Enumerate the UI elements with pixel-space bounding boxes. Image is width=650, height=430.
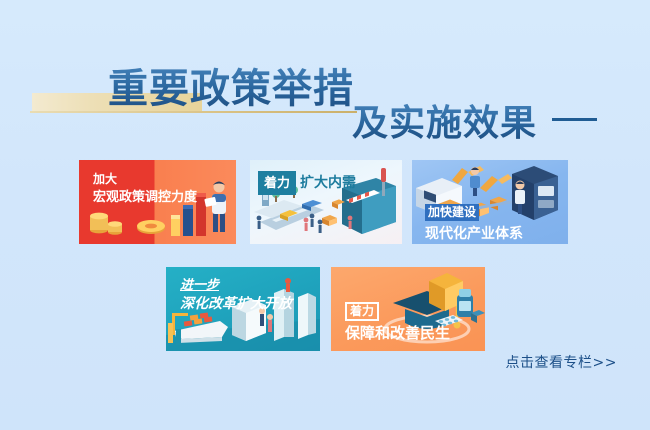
title-line-2: 及实施效果 <box>352 94 537 146</box>
card4-line-2: 深化改革扩大开放 <box>180 295 292 313</box>
card5-line-1: 着力 <box>345 302 379 321</box>
view-column-link[interactable]: 点击查看专栏>> <box>506 352 617 372</box>
card2-caption: 着力 扩大内需 <box>258 171 356 195</box>
card5-line-2: 保障和改善民生 <box>345 325 450 344</box>
card1-caption: 加大 宏观政策调控力度 <box>93 172 197 205</box>
policy-card-reform-opening[interactable]: 进一步 深化改革扩大开放 <box>166 267 320 351</box>
policy-card-expand-demand[interactable]: 着力 扩大内需 <box>250 160 402 244</box>
card5-caption: 着力 保障和改善民生 <box>345 301 450 344</box>
card3-line-2: 现代化产业体系 <box>425 225 523 243</box>
title-line-1: 重要政策举措 <box>108 56 354 114</box>
policy-card-modern-industry[interactable]: 加快建设 现代化产业体系 <box>412 160 568 244</box>
card3-line-1: 加快建设 <box>425 204 479 221</box>
banner-root: 重要政策举措 及实施效果 <box>0 0 650 430</box>
card4-caption: 进一步 深化改革扩大开放 <box>180 277 292 313</box>
policy-card-livelihood[interactable]: 着力 保障和改善民生 <box>331 267 485 351</box>
banner-title-block: 重要政策举措 及实施效果 <box>0 56 650 138</box>
policy-card-macro-control[interactable]: 加大 宏观政策调控力度 <box>79 160 236 244</box>
card2-line-2: 扩大内需 <box>300 174 356 192</box>
card3-caption: 加快建设 现代化产业体系 <box>425 202 523 243</box>
card1-line-2: 宏观政策调控力度 <box>93 189 197 205</box>
card2-line-1: 着力 <box>258 171 296 195</box>
card4-line-1: 进一步 <box>180 277 292 293</box>
card1-line-1: 加大 <box>93 172 197 187</box>
title-trailing-dash <box>552 118 597 121</box>
